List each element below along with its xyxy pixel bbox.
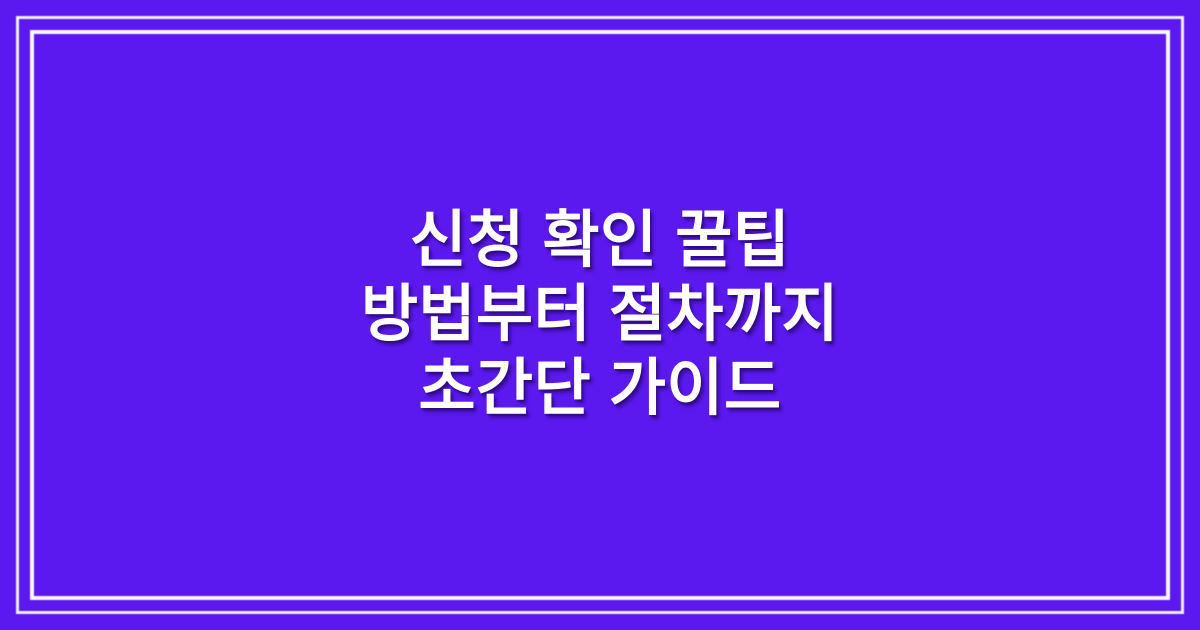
title-line-3: 초간단 가이드 (0, 352, 1200, 426)
title-line-1: 신청 확인 꿀팁 (0, 204, 1200, 278)
title-block: 신청 확인 꿀팁 방법부터 절차까지 초간단 가이드 (0, 0, 1200, 630)
thumbnail-banner: 신청 확인 꿀팁 방법부터 절차까지 초간단 가이드 (0, 0, 1200, 630)
title-line-2: 방법부터 절차까지 (0, 278, 1200, 352)
